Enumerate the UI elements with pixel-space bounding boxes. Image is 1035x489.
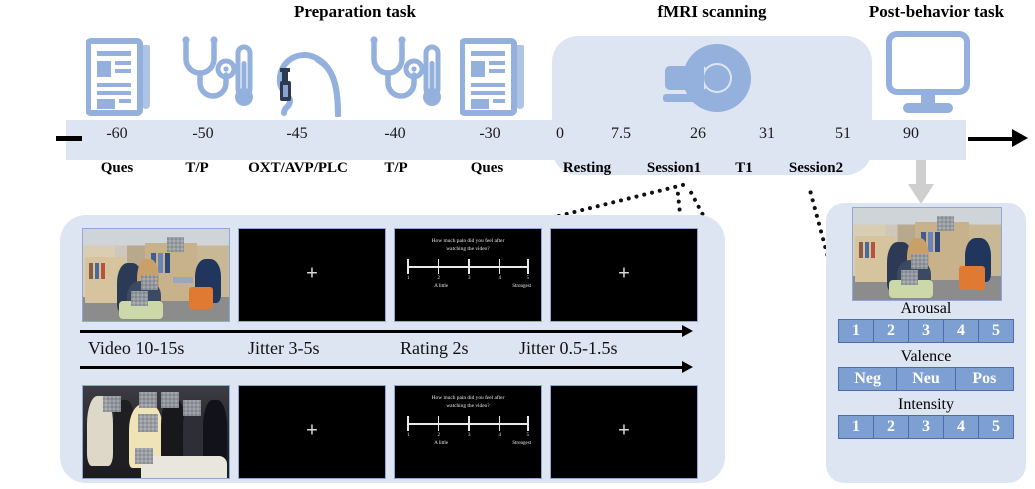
tick-label-t1: T1 <box>724 160 764 177</box>
rating-scale-row2[interactable]: 1 2 3 4 5 A little Strongest <box>407 416 529 434</box>
tick-label-tp-2: T/P <box>365 160 427 177</box>
tick-time-0: -60 <box>82 125 152 143</box>
mri-scanner-icon <box>655 40 765 120</box>
flow-arrow-top-line <box>80 330 682 333</box>
flow-arrow-bottom-head-icon <box>682 361 693 373</box>
tick-label-drug: OXT/AVP/PLC <box>225 160 371 177</box>
timeline-arrow-line <box>968 137 1016 141</box>
stage-label-jitter1: Jitter 3-5s <box>248 338 320 359</box>
arousal-option-5[interactable]: 5 <box>979 320 1013 342</box>
scale-title-intensity: Intensity <box>836 396 1016 414</box>
tick-time-2: -45 <box>262 125 332 143</box>
stimulus-video-frame-row2 <box>82 385 230 479</box>
questionnaire-icon-2 <box>460 35 528 117</box>
intensity-option-2[interactable]: 2 <box>874 416 909 438</box>
rating-screen-row2: How much pain did you feel after watchin… <box>394 385 542 479</box>
tick-label-session2: Session2 <box>768 160 864 177</box>
tick-label-tp-1: T/P <box>166 160 228 177</box>
post-task-stimulus-frame <box>852 207 1002 301</box>
scale-row-arousal[interactable]: 1 2 3 4 5 <box>838 319 1014 343</box>
gray-down-arrow-icon <box>908 160 934 204</box>
rating-question-row1: How much pain did you feel after watchin… <box>395 238 541 254</box>
fixation-cross-row1: + <box>306 263 318 286</box>
rating-screen-row1: How much pain did you feel after watchin… <box>394 228 542 322</box>
jitter-screen-row2: + <box>550 385 698 479</box>
tick-time-9: 51 <box>820 125 866 143</box>
stage-label-video: Video 10-15s <box>88 338 184 359</box>
computer-monitor-icon <box>885 30 971 118</box>
valence-option-pos[interactable]: Pos <box>956 368 1013 390</box>
stage-label-jitter2: Jitter 0.5-1.5s <box>519 338 618 359</box>
intensity-option-5[interactable]: 5 <box>979 416 1013 438</box>
tick-time-1: -50 <box>168 125 238 143</box>
jitter-screen-row1: + <box>550 228 698 322</box>
arousal-option-3[interactable]: 3 <box>909 320 944 342</box>
timeline-left-stub <box>56 136 82 141</box>
rating-question-row2: How much pain did you feel after watchin… <box>395 395 541 411</box>
tick-time-6: 7.5 <box>598 125 644 143</box>
section-title-post-behavior: Post-behavior task <box>838 2 1035 22</box>
scale-title-arousal: Arousal <box>836 300 1016 318</box>
tick-label-session1: Session1 <box>626 160 722 177</box>
flow-arrow-top-head-icon <box>682 325 693 337</box>
section-title-fmri: fMRI scanning <box>592 2 832 22</box>
stethoscope-thermometer-icon <box>176 35 254 117</box>
valence-option-neg[interactable]: Neg <box>839 368 897 390</box>
tick-time-4: -30 <box>455 125 525 143</box>
arousal-option-4[interactable]: 4 <box>944 320 979 342</box>
timeline-arrow-head-icon <box>1012 129 1028 147</box>
fixation-screen-row2: + <box>238 385 386 479</box>
stage-label-rating: Rating 2s <box>400 338 469 359</box>
tick-time-5: 0 <box>540 125 580 143</box>
rating-scale-row1[interactable]: 1 2 3 4 5 A little Strongest <box>407 259 529 277</box>
tick-label-resting: Resting <box>545 160 629 177</box>
scale-row-intensity[interactable]: 1 2 3 4 5 <box>838 415 1014 439</box>
arousal-option-1[interactable]: 1 <box>839 320 874 342</box>
tick-time-8: 31 <box>744 125 790 143</box>
questionnaire-icon <box>86 35 154 117</box>
head-nasal-spray-icon <box>266 35 352 117</box>
tick-label-ques-1: Ques <box>82 160 152 177</box>
tick-time-7: 26 <box>675 125 721 143</box>
stethoscope-thermometer-icon-2 <box>364 35 442 117</box>
fixation-cross-row2: + <box>306 420 318 443</box>
arousal-option-2[interactable]: 2 <box>874 320 909 342</box>
intensity-option-4[interactable]: 4 <box>944 416 979 438</box>
fixation-cross-jitter-row2: + <box>618 420 630 443</box>
flow-arrow-bottom-line <box>80 366 682 369</box>
stimulus-video-frame-row1 <box>82 228 230 322</box>
fixation-screen-row1: + <box>238 228 386 322</box>
tick-time-10: 90 <box>888 125 934 143</box>
intensity-option-3[interactable]: 3 <box>909 416 944 438</box>
section-title-preparation: Preparation task <box>190 2 520 22</box>
fixation-cross-jitter-row1: + <box>618 263 630 286</box>
intensity-option-1[interactable]: 1 <box>839 416 874 438</box>
tick-label-ques-2: Ques <box>452 160 522 177</box>
scale-row-valence[interactable]: Neg Neu Pos <box>838 367 1014 391</box>
valence-option-neu[interactable]: Neu <box>897 368 955 390</box>
scale-title-valence: Valence <box>836 348 1016 366</box>
tick-time-3: -40 <box>360 125 430 143</box>
